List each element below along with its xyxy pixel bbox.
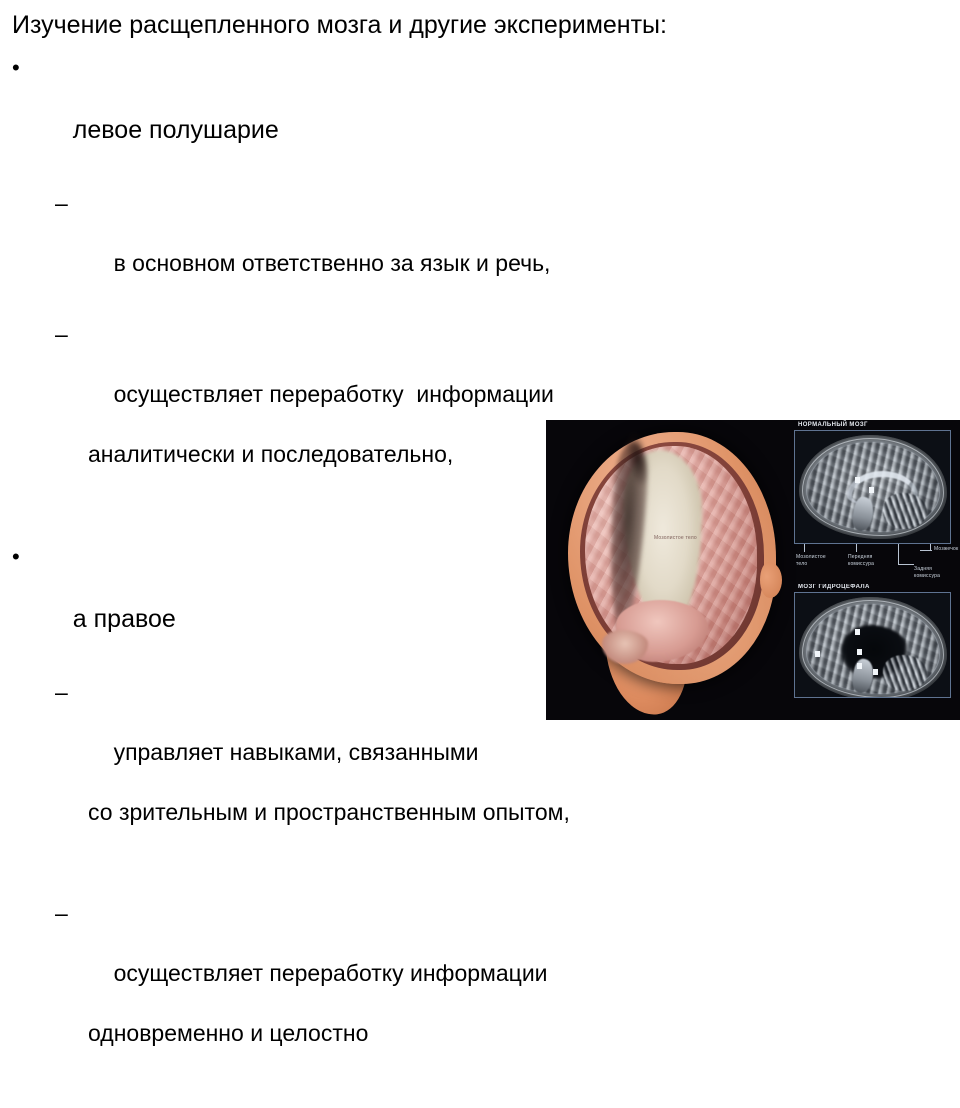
mri-annotation-label: Мозолистое тело [796, 554, 826, 567]
list-item: • левое полушарие [0, 53, 960, 177]
bullet-marker-icon: • [12, 52, 20, 83]
bullet-marker-icon: • [12, 541, 20, 572]
mri-marker-dot [869, 487, 874, 493]
ear-shape [760, 562, 782, 598]
dash-marker-icon: – [55, 677, 68, 707]
list-item-label: управляет навыками, связанными [114, 739, 479, 765]
list-item-label-continued: одновременно и целостно [88, 1018, 960, 1048]
mri-marker-dot [873, 669, 878, 675]
list-item-label: а правое [73, 605, 176, 633]
mri-annotation-label: Задняя комиссура [914, 566, 940, 579]
mri-annotation-layer: Мозолистое тело Передняя комиссура Задня… [794, 544, 960, 586]
list-item-label: осуществляет переработку информации [114, 381, 554, 407]
dash-marker-icon: – [55, 188, 68, 218]
mri-marker-dot [855, 477, 860, 483]
list-item: – осуществляет переработку информации од… [0, 898, 960, 1108]
mri-marker-dot [857, 663, 862, 669]
mri-cerebellum [883, 493, 927, 529]
mri-panel-heading: НОРМАЛЬНЫЙ МОЗГ [798, 422, 960, 428]
leader-line [898, 544, 899, 564]
leader-line [898, 564, 914, 565]
leader-line [920, 550, 932, 551]
leader-line [804, 544, 805, 552]
mri-annotation-label: Мозжечок [934, 546, 958, 553]
list-item-label: левое полушарие [73, 116, 279, 144]
mri-cerebellum [883, 655, 927, 691]
dash-marker-icon: – [55, 319, 68, 349]
mri-panel-hydrocephalus: МОЗГ ГИДРОЦЕФАЛА [794, 584, 960, 698]
mri-image-frame [794, 430, 951, 544]
mri-annotation-label: Передняя комиссура [848, 554, 874, 567]
leader-line [856, 544, 857, 552]
list-item: – в основном ответственно за язык и речь… [0, 188, 960, 308]
list-item-label-continued: со зрительным и пространственным опытом, [88, 797, 960, 827]
mri-marker-dot [815, 651, 820, 657]
mri-marker-dot [855, 629, 860, 635]
mri-panel-heading: МОЗГ ГИДРОЦЕФАЛА [798, 584, 960, 590]
mri-marker-dot [857, 649, 862, 655]
mri-image-frame [794, 592, 951, 698]
page-title: Изучение расщепленного мозга и другие эк… [0, 0, 960, 40]
list-item-label: в основном ответственно за язык и речь, [114, 250, 551, 276]
brain-anatomy-image: Мозолистое тело НОРМАЛЬНЫЙ МОЗГ Мозолист… [546, 420, 960, 720]
head-brain-illustration: Мозолистое тело [550, 424, 792, 718]
list-item-label: осуществляет переработку информации [114, 960, 548, 986]
dash-marker-icon: – [55, 898, 68, 928]
mri-panel-normal: НОРМАЛЬНЫЙ МОЗГ [794, 422, 960, 544]
illustration-caption: Мозолистое тело [654, 535, 697, 541]
